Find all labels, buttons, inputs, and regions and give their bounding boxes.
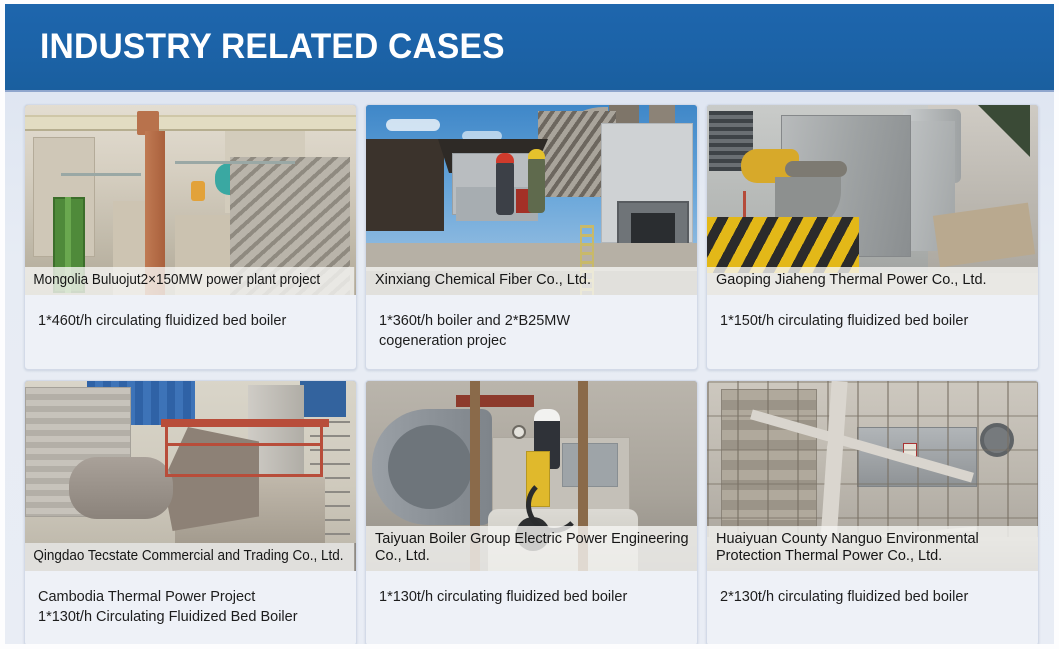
case-card[interactable]: Gaoping Jiaheng Thermal Power Co., Ltd. … xyxy=(706,104,1039,370)
page-root: INDUSTRY RELATED CASES xyxy=(0,0,1059,649)
case-card[interactable]: Huaiyuan County Nanguo Environmental Pro… xyxy=(706,380,1039,644)
case-description: Cambodia Thermal Power Project 1*130t/h … xyxy=(25,571,356,644)
case-description-line2: cogeneration projec xyxy=(379,331,685,351)
case-caption: Gaoping Jiaheng Thermal Power Co., Ltd. xyxy=(707,267,1038,295)
case-description-line1: 1*460t/h circulating fluidized bed boile… xyxy=(38,313,286,329)
case-image: Mongolia Buluojut2×150MW power plant pro… xyxy=(25,105,356,295)
page-title: INDUSTRY RELATED CASES xyxy=(40,24,505,70)
case-description-line1: 2*130t/h circulating fluidized bed boile… xyxy=(720,589,968,605)
case-card[interactable]: Xinxiang Chemical Fiber Co., Ltd. 1*360t… xyxy=(365,104,698,370)
case-image: Huaiyuan County Nanguo Environmental Pro… xyxy=(707,381,1038,571)
case-caption: Mongolia Buluojut2×150MW power plant pro… xyxy=(25,267,354,295)
case-description: 1*360t/h boiler and 2*B25MW cogeneration… xyxy=(366,295,697,369)
case-image: Gaoping Jiaheng Thermal Power Co., Ltd. xyxy=(707,105,1038,295)
case-description-line1: 1*360t/h boiler and 2*B25MW xyxy=(379,313,570,329)
case-card[interactable]: Qingdao Tecstate Commercial and Trading … xyxy=(24,380,357,644)
case-description-line2: 1*130t/h Circulating Fluidized Bed Boile… xyxy=(38,607,344,627)
section-header: INDUSTRY RELATED CASES xyxy=(5,4,1054,92)
case-caption: Taiyuan Boiler Group Electric Power Engi… xyxy=(366,526,697,571)
case-description: 2*130t/h circulating fluidized bed boile… xyxy=(707,571,1038,637)
case-card[interactable]: Mongolia Buluojut2×150MW power plant pro… xyxy=(24,104,357,370)
case-description: 1*460t/h circulating fluidized bed boile… xyxy=(25,295,356,361)
case-card-grid: Mongolia Buluojut2×150MW power plant pro… xyxy=(24,104,1039,644)
case-description-line1: 1*130t/h circulating fluidized bed boile… xyxy=(379,589,627,605)
case-caption: Xinxiang Chemical Fiber Co., Ltd. xyxy=(366,267,697,295)
page-inner: INDUSTRY RELATED CASES xyxy=(5,4,1054,644)
case-description-line1: 1*150t/h circulating fluidized bed boile… xyxy=(720,313,968,329)
case-caption: Qingdao Tecstate Commercial and Trading … xyxy=(25,543,354,571)
case-caption: Huaiyuan County Nanguo Environmental Pro… xyxy=(707,526,1038,571)
case-description-line1: Cambodia Thermal Power Project xyxy=(38,589,255,605)
case-description: 1*130t/h circulating fluidized bed boile… xyxy=(366,571,697,637)
case-image: Taiyuan Boiler Group Electric Power Engi… xyxy=(366,381,697,571)
case-image: Qingdao Tecstate Commercial and Trading … xyxy=(25,381,356,571)
case-card[interactable]: Taiyuan Boiler Group Electric Power Engi… xyxy=(365,380,698,644)
case-image: Xinxiang Chemical Fiber Co., Ltd. xyxy=(366,105,697,295)
case-description: 1*150t/h circulating fluidized bed boile… xyxy=(707,295,1038,361)
